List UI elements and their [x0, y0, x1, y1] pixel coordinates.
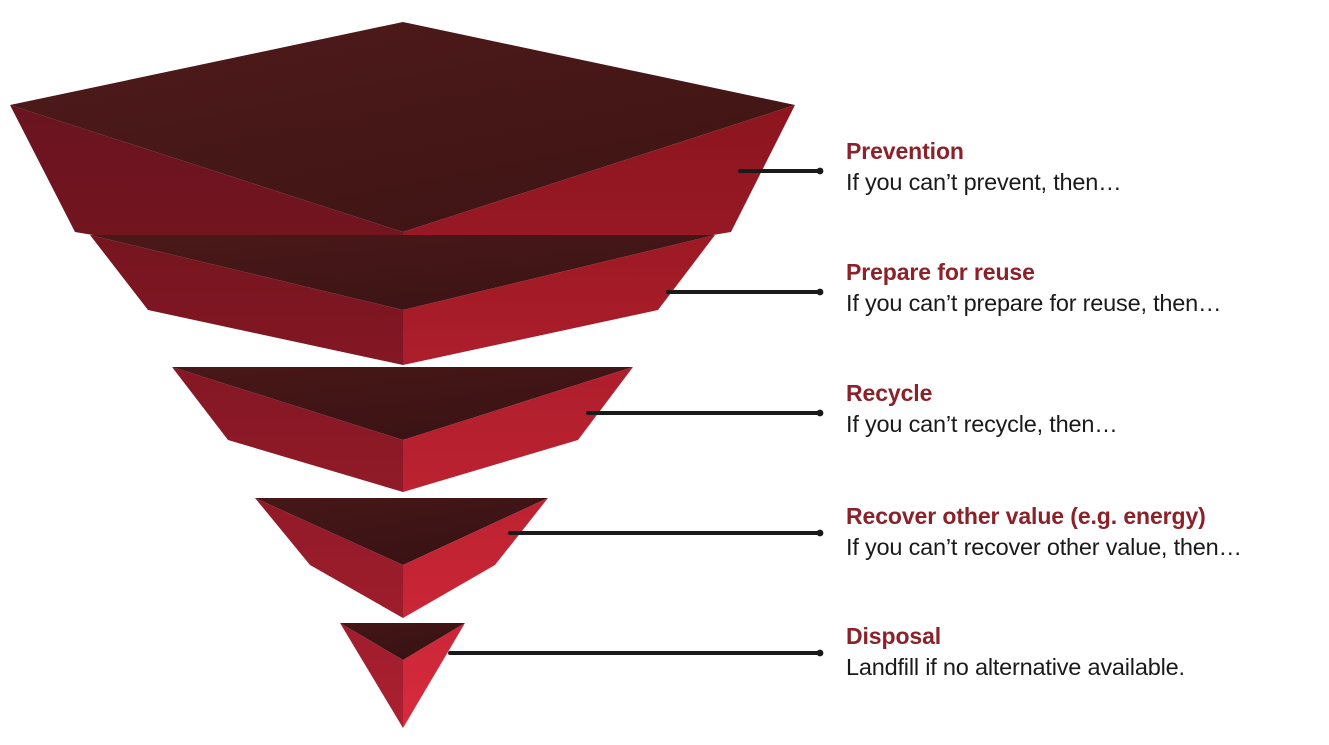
legend-desc-disposal: Landfill if no alternative available. — [846, 652, 1316, 682]
legend-item-recycle[interactable]: Recycle If you can’t recycle, then… — [846, 380, 1316, 439]
legend-title-prepare-for-reuse: Prepare for reuse — [846, 259, 1316, 286]
legend-item-prepare-for-reuse[interactable]: Prepare for reuse If you can’t prepare f… — [846, 259, 1316, 318]
funnel-layer-4-recover-other-value[interactable] — [255, 498, 548, 618]
legend-title-recover-other-value: Recover other value (e.g. energy) — [846, 503, 1316, 530]
legend-item-disposal[interactable]: Disposal Landfill if no alternative avai… — [846, 623, 1316, 682]
legend-item-prevention[interactable]: Prevention If you can’t prevent, then… — [846, 138, 1316, 197]
legend-panel: Prevention If you can’t prevent, then… P… — [846, 0, 1316, 745]
legend-desc-prevention: If you can’t prevent, then… — [846, 167, 1316, 197]
legend-title-prevention: Prevention — [846, 138, 1316, 165]
legend-desc-recover-other-value: If you can’t recover other value, then… — [846, 532, 1316, 562]
legend-title-disposal: Disposal — [846, 623, 1316, 650]
funnel-layer-5-disposal[interactable] — [340, 623, 465, 728]
waste-hierarchy-diagram: Prevention If you can’t prevent, then… P… — [0, 0, 1329, 745]
leader-dot-5 — [817, 650, 824, 657]
legend-title-recycle: Recycle — [846, 380, 1316, 407]
leader-line-endpoints — [817, 168, 824, 657]
leader-dot-4 — [817, 530, 824, 537]
legend-item-recover-other-value[interactable]: Recover other value (e.g. energy) If you… — [846, 503, 1316, 562]
funnel-layer-2-prepare-for-reuse[interactable] — [90, 235, 715, 365]
funnel-layer-3-recycle[interactable] — [172, 367, 633, 492]
legend-desc-prepare-for-reuse: If you can’t prepare for reuse, then… — [846, 288, 1316, 318]
leader-dot-1 — [817, 168, 824, 175]
legend-desc-recycle: If you can’t recycle, then… — [846, 409, 1316, 439]
leader-dot-3 — [817, 410, 824, 417]
leader-dot-2 — [817, 289, 824, 296]
